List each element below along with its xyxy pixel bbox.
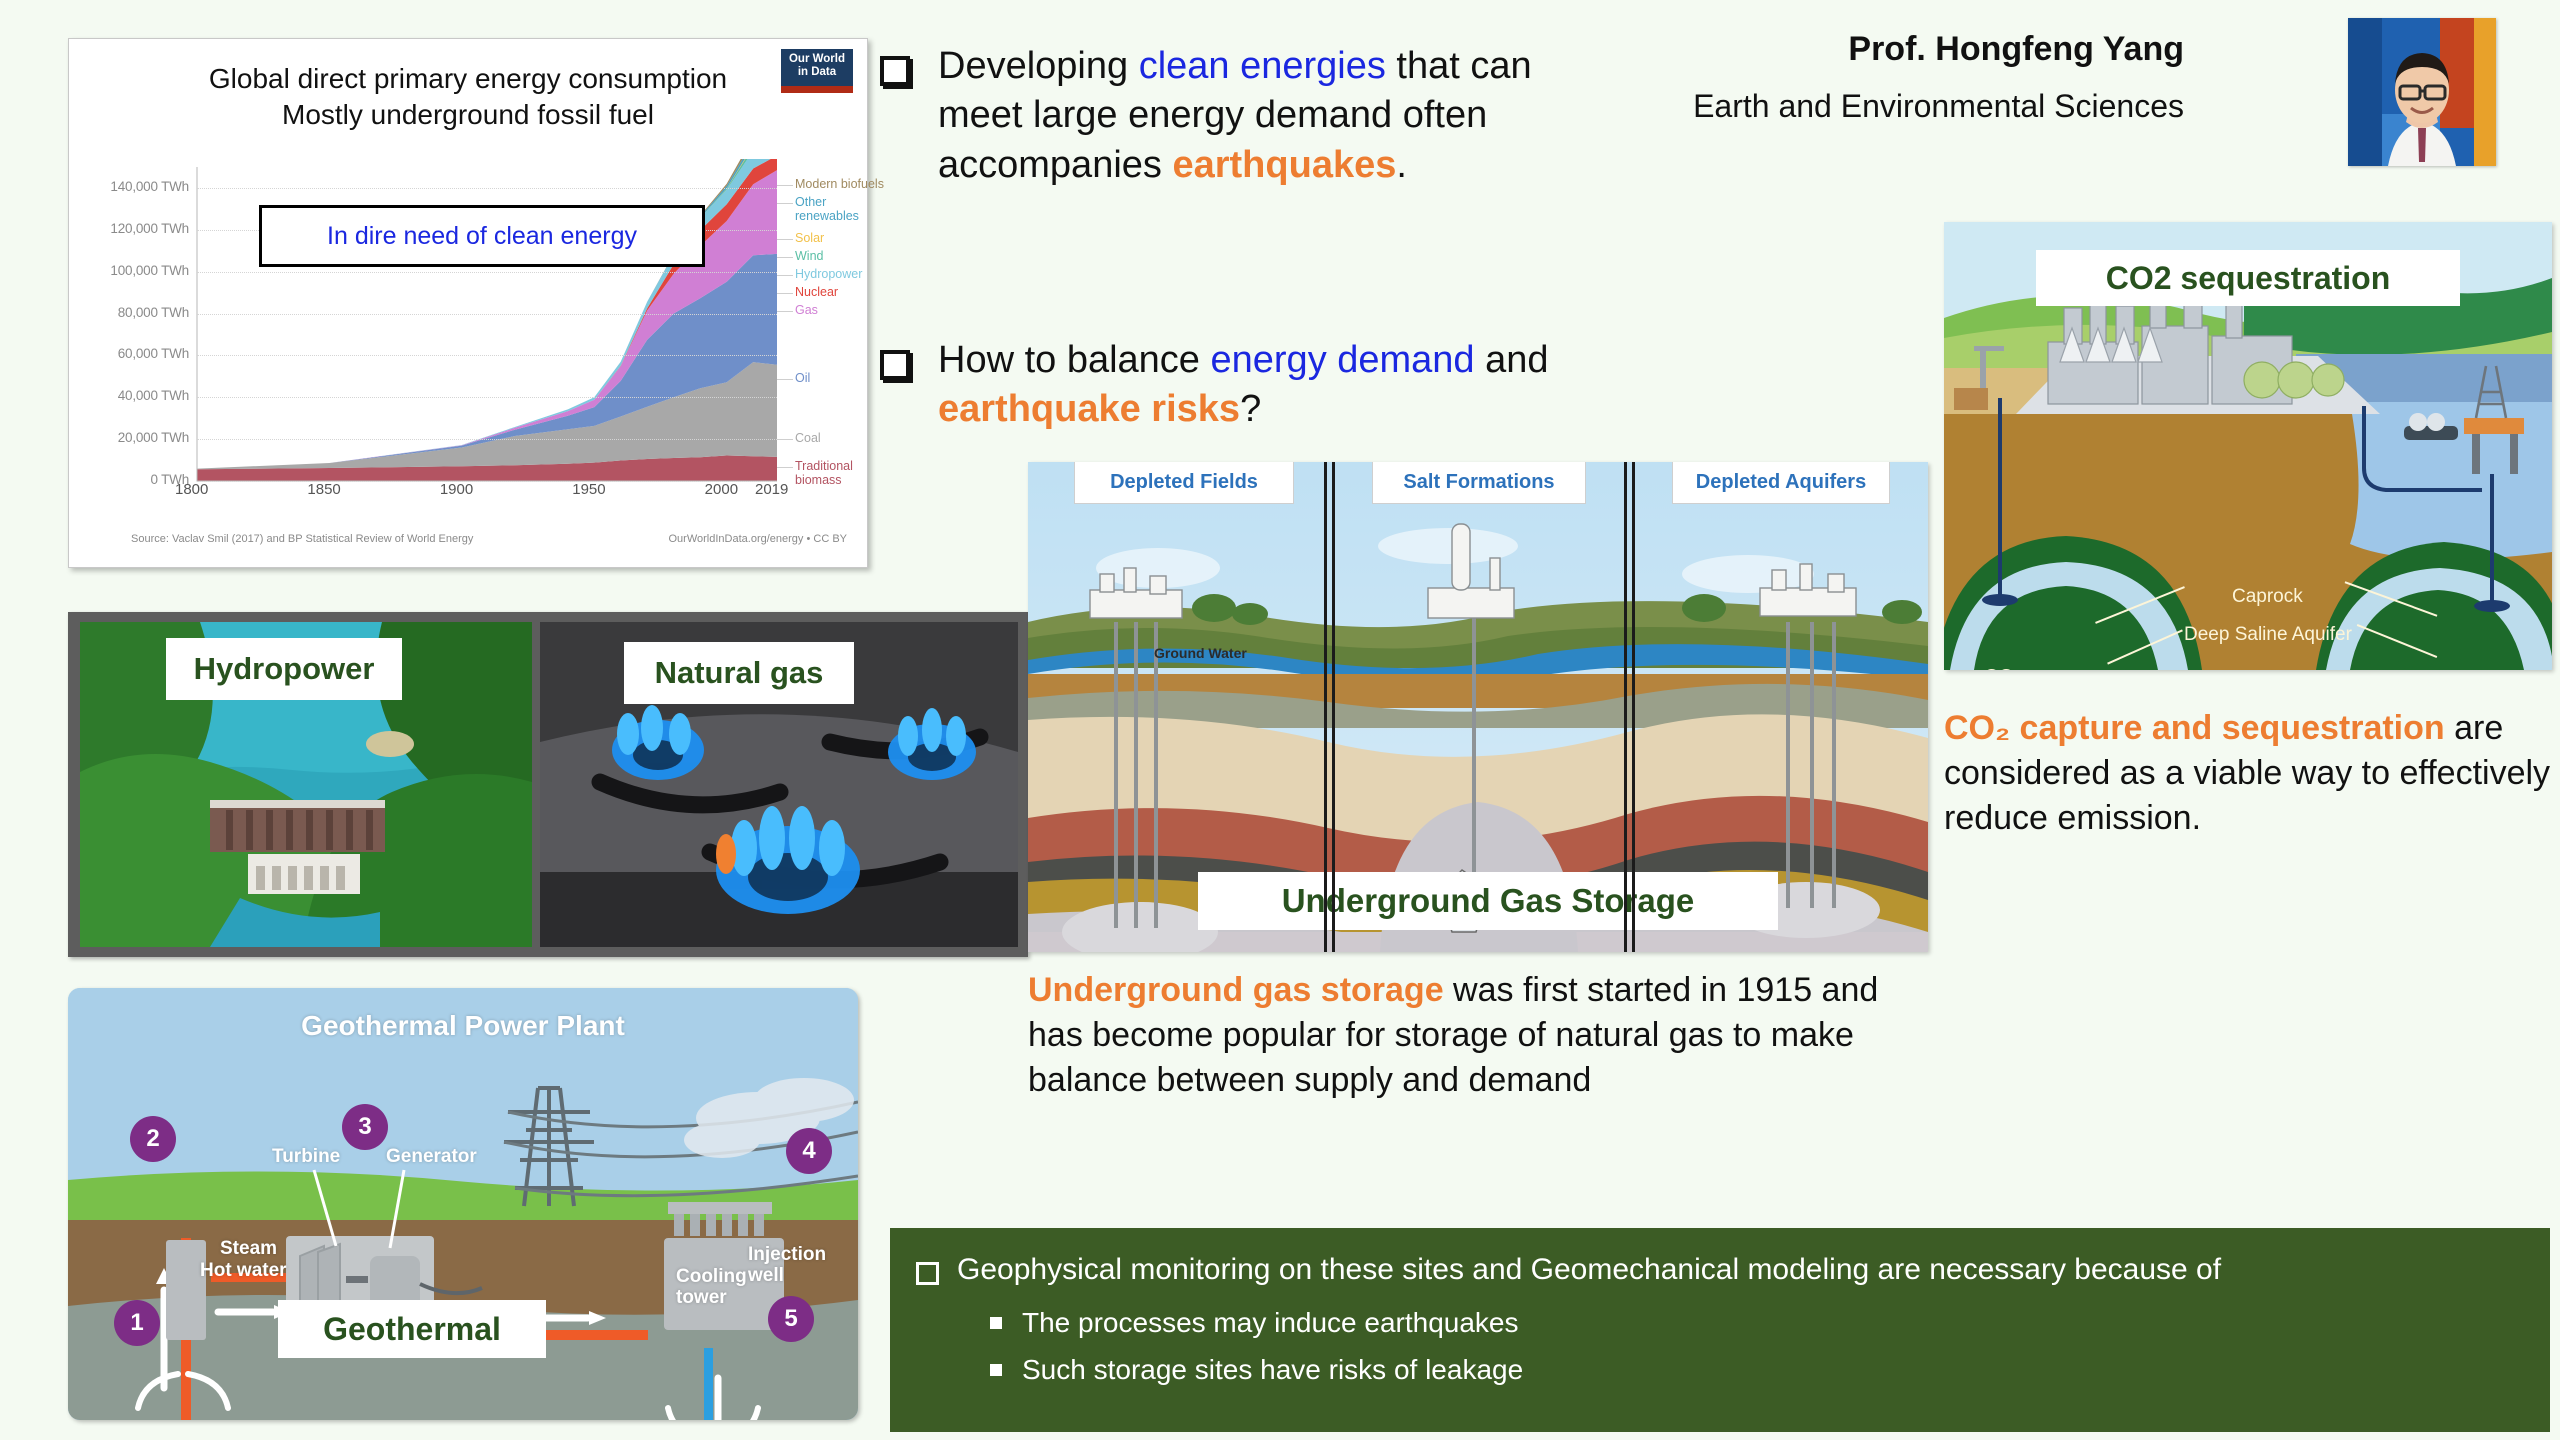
logo-line1: Our World [789, 53, 845, 65]
caprock-label: Caprock [2232, 586, 2303, 608]
seg-clean-energies: clean energies [1139, 45, 1386, 87]
svg-text:Ground Water: Ground Water [1154, 645, 1247, 661]
co2-paragraph-highlight: CO₂ capture and sequestration [1944, 709, 2445, 747]
footer-sub-point-2-text: Such storage sites have risks of leakage [1022, 1350, 1523, 1389]
chart-title: Global direct primary energy consumption… [69, 61, 867, 133]
chart-gridline [197, 188, 777, 189]
chart-x-tick: 2019 [755, 481, 788, 498]
chart-legend-item-other-renewables: Other renewables [795, 195, 857, 223]
geothermal-diagram-title: Geothermal Power Plant [68, 1010, 858, 1042]
steam-label: Steam [220, 1238, 277, 1260]
chart-title-line1: Global direct primary energy consumption [69, 61, 867, 97]
dire-need-text: In dire need of clean energy [327, 222, 637, 251]
professor-department: Earth and Environmental Sciences [1693, 88, 2184, 125]
chart-legend-connector [777, 439, 793, 440]
chart-legend-item-solar: Solar [795, 231, 824, 245]
square-bullet-icon [880, 56, 910, 86]
chart-legend-item-gas: Gas [795, 303, 818, 317]
underground-gas-storage-caption: Underground Gas Storage [1198, 872, 1778, 930]
chart-x-tick: 1900 [440, 481, 473, 498]
chart-y-tick: 60,000 TWh [69, 346, 189, 361]
panel-divider-1 [1324, 462, 1327, 952]
chart-y-tick: 120,000 TWh [69, 221, 189, 236]
geothermal-step-5: 5 [768, 1296, 814, 1342]
chart-gridline [197, 397, 777, 398]
geothermal-caption: Geothermal [278, 1300, 546, 1358]
chart-legend-item-nuclear: Nuclear [795, 285, 838, 299]
chart-x-tick: 1800 [175, 481, 208, 498]
seg-plain-5: and [1475, 339, 1549, 381]
seg-plain-6: ? [1240, 388, 1261, 430]
chart-gridline [197, 355, 777, 356]
panel-divider-2 [1624, 462, 1627, 952]
footer-sub-point-1: The processes may induce earthquakes [990, 1303, 2524, 1342]
geothermal-step-3: 3 [342, 1104, 388, 1150]
chart-legend-connector [777, 185, 793, 186]
bullet-clean-energy: Developing clean energies that can meet … [880, 42, 1600, 190]
chart-title-line2: Mostly underground fossil fuel [69, 97, 867, 133]
chart-legend-item-oil: Oil [795, 371, 810, 385]
tab-depleted-fields: Depleted Fields [1074, 462, 1294, 504]
square-bullet-icon [916, 1262, 939, 1285]
generator-label: Generator [386, 1146, 477, 1168]
ugs-paragraph: Underground gas storage was first starte… [1028, 968, 1908, 1104]
seg-plain-4: How to balance [938, 339, 1211, 381]
chart-legend-connector [777, 257, 793, 258]
tab-salt-formations: Salt Formations [1372, 462, 1586, 504]
professor-name: Prof. Hongfeng Yang [1848, 30, 2184, 69]
chart-legend-connector [777, 203, 793, 204]
bullet-balance: How to balance energy demand and earthqu… [880, 336, 1610, 435]
chart-legend-connector [777, 239, 793, 240]
chart-legend-connector [777, 275, 793, 276]
deep-saline-aquifer-label: Deep Saline Aquifer [2184, 624, 2352, 646]
geothermal-step-1: 1 [114, 1300, 160, 1346]
chart-legend-item-wind: Wind [795, 249, 823, 263]
cooling-tower-label: Cooling tower [676, 1266, 747, 1309]
geothermal-step-2: 2 [130, 1116, 176, 1162]
co2-sequestration-caption: CO2 sequestration [2036, 250, 2460, 306]
footer-main-point: Geophysical monitoring on these sites an… [916, 1250, 2524, 1291]
footer-sub-point-2: Such storage sites have risks of leakage [990, 1350, 2524, 1389]
bullet-clean-energy-text: Developing clean energies that can meet … [938, 42, 1600, 190]
chart-legend-item-coal: Coal [795, 431, 821, 445]
bullet-balance-text: How to balance energy demand and earthqu… [938, 336, 1610, 435]
chart-legend-item-modern-biofuels: Modern biofuels [795, 177, 884, 191]
chart-y-tick: 100,000 TWh [69, 263, 189, 278]
footer-sub-point-1-text: The processes may induce earthquakes [1022, 1303, 1519, 1342]
hydropower-caption: Hydropower [166, 638, 402, 700]
our-world-in-data-logo: Our World in Data [781, 49, 853, 93]
chart-x-tick: 1950 [572, 481, 605, 498]
natural-gas-caption-text: Natural gas [655, 655, 824, 691]
tab-depleted-aquifers: Depleted Aquifers [1672, 462, 1890, 504]
dire-need-callout: In dire need of clean energy [259, 205, 705, 267]
chart-x-tick: 2000 [705, 481, 738, 498]
small-square-bullet-icon [990, 1364, 1002, 1376]
chart-y-tick: 140,000 TWh [69, 179, 189, 194]
small-square-bullet-icon [990, 1317, 1002, 1329]
chart-legend-connector [777, 379, 793, 380]
co2-paragraph: CO₂ capture and sequestration are consid… [1944, 706, 2554, 842]
geothermal-caption-text: Geothermal [323, 1311, 501, 1348]
chart-y-tick: 80,000 TWh [69, 305, 189, 320]
co2-caption-text: CO2 sequestration [2106, 260, 2391, 297]
seg-earthquakes: earthquakes [1172, 144, 1396, 186]
ugs-paragraph-highlight: Underground gas storage [1028, 971, 1444, 1009]
footer-main-point-text: Geophysical monitoring on these sites an… [957, 1250, 2221, 1291]
seg-plain-3: . [1396, 144, 1407, 186]
energy-chart-card: Global direct primary energy consumption… [68, 38, 868, 568]
chart-gridline [197, 439, 777, 440]
chart-legend-item-hydropower: Hydropower [795, 267, 862, 281]
footer-panel: Geophysical monitoring on these sites an… [890, 1228, 2550, 1432]
natural-gas-caption: Natural gas [624, 642, 854, 704]
turbine-label: Turbine [272, 1146, 340, 1168]
chart-y-tick: 40,000 TWh [69, 388, 189, 403]
injection-well-label: Injection well [748, 1244, 826, 1287]
panel-divider-1b [1332, 462, 1335, 952]
hot-water-label: Hot water [200, 1260, 287, 1282]
professor-portrait [2348, 18, 2496, 166]
square-bullet-icon [880, 350, 910, 380]
chart-x-tick: 1850 [307, 481, 340, 498]
chart-gridline [197, 272, 777, 273]
geothermal-step-4: 4 [786, 1128, 832, 1174]
seg-energy-demand: energy demand [1211, 339, 1475, 381]
chart-legend-connector [777, 293, 793, 294]
source-right: OurWorldInData.org/energy • CC BY [669, 533, 848, 545]
chart-legend-connector [777, 311, 793, 312]
hydropower-caption-text: Hydropower [194, 651, 375, 687]
chart-legend-item-traditional-biomass: Traditional biomass [795, 459, 857, 487]
chart-gridline [197, 314, 777, 315]
co2-label-left: CO₂ [1984, 666, 2022, 670]
seg-earthquake-risks: earthquake risks [938, 388, 1240, 430]
seg-plain-1: Developing [938, 45, 1139, 87]
source-left: Source: Vaclav Smil (2017) and BP Statis… [131, 533, 473, 545]
logo-line2: in Data [798, 66, 836, 78]
panel-divider-2b [1632, 462, 1635, 952]
chart-y-tick: 20,000 TWh [69, 430, 189, 445]
chart-legend-connector [777, 467, 793, 468]
chart-x-tick-labels: 180018501900195020002019 [69, 481, 869, 505]
chart-source-line: Source: Vaclav Smil (2017) and BP Statis… [131, 533, 847, 545]
